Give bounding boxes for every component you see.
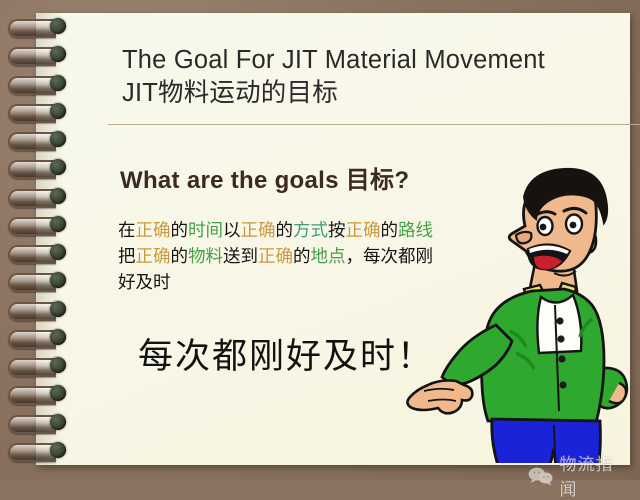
cartoon-man-presenting (404, 163, 640, 463)
spiral-hole (50, 75, 66, 91)
spiral-ring (8, 131, 66, 149)
spiral-ring (8, 357, 66, 375)
spiral-hole (50, 159, 66, 175)
spiral-wire (8, 104, 56, 123)
spiral-hole (50, 414, 66, 430)
wechat-icon (528, 466, 553, 485)
spiral-hole (50, 131, 66, 147)
spiral-wire (8, 189, 56, 208)
text-run-keyword-place-7: 地点 (311, 246, 346, 266)
spiral-ring (8, 159, 66, 177)
text-run-emphasis-correct-5: 正确 (258, 246, 293, 266)
spiral-wire (8, 386, 56, 405)
spiral-ring (8, 46, 66, 64)
text-run-keyword-method-7: 方式 (293, 220, 328, 240)
watermark: 物流指闻 (528, 450, 630, 500)
spiral-hole (50, 385, 66, 401)
title-divider (108, 124, 640, 125)
spiral-wire (8, 358, 56, 377)
text-run-plain-0: 在 (118, 220, 136, 240)
text-run-emphasis-correct-1: 正确 (136, 246, 171, 266)
spiral-hole (50, 272, 66, 288)
spiral-hole (50, 216, 66, 232)
left-hand-open-palm (407, 381, 472, 414)
spiral-ring (8, 103, 66, 121)
punchline-text: 每次都刚好及时！ (138, 335, 434, 379)
spiral-hole (50, 18, 66, 34)
spiral-hole (50, 442, 66, 458)
spiral-wire (8, 245, 56, 264)
slide-title: The Goal For JIT Material Movement JIT物料… (122, 44, 640, 110)
spiral-wire (8, 415, 56, 434)
spiral-binding (0, 16, 70, 468)
slide-title-english: The Goal For JIT Material Movement (122, 44, 640, 77)
pupil-left (540, 224, 547, 231)
spiral-hole (50, 46, 66, 62)
button-2 (557, 335, 564, 342)
spiral-ring (8, 272, 66, 290)
slide-title-chinese: JIT物料运动的目标 (122, 77, 640, 110)
text-run-plain-2: 的 (171, 246, 189, 266)
text-run-plain-4: 送到 (223, 246, 258, 266)
spiral-wire (8, 19, 56, 38)
spiral-wire (8, 302, 56, 321)
spiral-hole (50, 329, 66, 345)
spiral-hole (50, 188, 66, 204)
text-run-plain-10: 的 (381, 220, 399, 240)
spiral-wire (8, 132, 56, 151)
watermark-text: 物流指闻 (559, 450, 630, 500)
spiral-wire (8, 217, 56, 236)
text-run-plain-0: 把 (118, 246, 136, 266)
text-run-plain-6: 的 (276, 220, 294, 240)
text-run-plain-0: 好及时 (118, 272, 171, 292)
spiral-ring (8, 18, 66, 36)
spiral-wire (8, 443, 56, 462)
spiral-wire (8, 47, 56, 66)
text-run-keyword-time-3: 时间 (188, 220, 223, 240)
spiral-hole (50, 301, 66, 317)
text-run-keyword-material-3: 物料 (188, 246, 223, 266)
spiral-hole (50, 103, 66, 119)
spiral-ring (8, 442, 66, 460)
text-run-plain-4: 以 (223, 220, 241, 240)
spiral-ring (8, 188, 66, 206)
spiral-wire (8, 330, 56, 349)
spiral-ring (8, 216, 66, 234)
text-run-emphasis-correct-1: 正确 (136, 220, 171, 240)
spiral-ring (8, 329, 66, 347)
spiral-ring (8, 244, 66, 262)
spiral-hole (50, 357, 66, 373)
text-run-emphasis-correct-9: 正确 (346, 220, 381, 240)
nose (516, 232, 531, 243)
text-run-plain-6: 的 (293, 246, 311, 266)
spiral-ring (8, 75, 66, 93)
button-3 (558, 355, 565, 362)
spiral-hole (50, 244, 66, 260)
spiral-ring (8, 301, 66, 319)
pupil-right (570, 222, 577, 229)
text-run-emphasis-correct-5: 正确 (241, 220, 276, 240)
spiral-ring (8, 414, 66, 432)
text-run-plain-8: 按 (328, 220, 346, 240)
button-4 (559, 381, 566, 388)
notebook-page: The Goal For JIT Material Movement JIT物料… (36, 13, 630, 465)
spiral-wire (8, 273, 56, 292)
spiral-wire (8, 76, 56, 95)
spiral-ring (8, 385, 66, 403)
question-heading: What are the goals 目标? (120, 160, 409, 195)
button-1 (556, 317, 563, 324)
text-run-plain-2: 的 (171, 220, 189, 240)
spiral-wire (8, 160, 56, 179)
